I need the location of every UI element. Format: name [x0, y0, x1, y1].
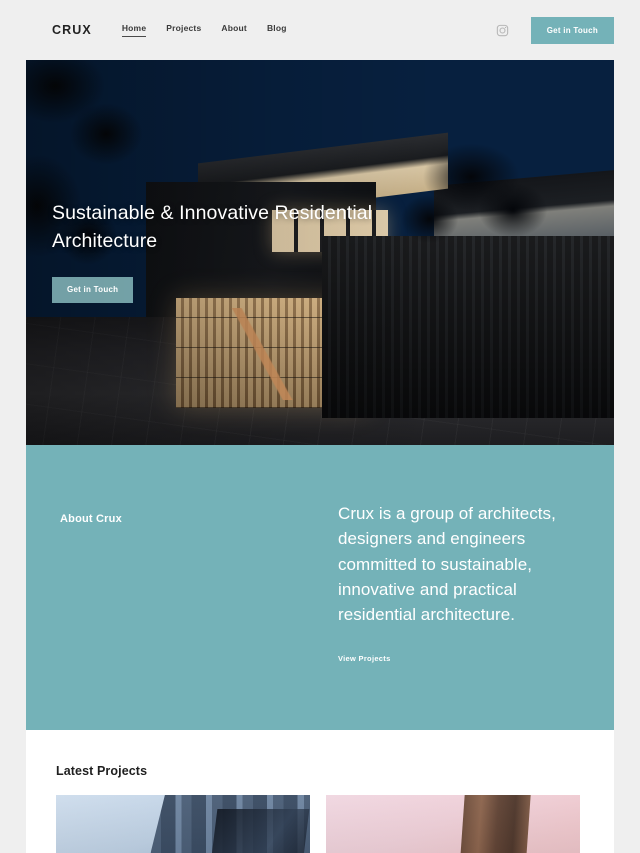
site-header: CRUX Home Projects About Blog Get in Tou… — [0, 0, 640, 60]
about-section: About Crux Crux is a group of architects… — [26, 445, 614, 730]
nav-link-projects[interactable]: Projects — [166, 23, 201, 37]
brand-logo[interactable]: CRUX — [52, 23, 92, 37]
project-thumbnail-1 — [56, 795, 310, 853]
about-copy: Crux is a group of architects, designers… — [338, 501, 580, 628]
instagram-icon[interactable] — [496, 24, 509, 37]
about-kicker: About Crux — [60, 513, 338, 525]
view-projects-link[interactable]: View Projects — [338, 654, 391, 663]
nav-link-about[interactable]: About — [221, 23, 247, 37]
thumbnail-shade — [326, 795, 580, 853]
header-actions: Get in Touch — [496, 17, 614, 44]
latest-projects-section: Latest Projects — [26, 730, 614, 853]
hero-content: Sustainable & Innovative Residential Arc… — [52, 200, 432, 303]
hero-section: Sustainable & Innovative Residential Arc… — [26, 60, 614, 445]
project-card-1[interactable] — [56, 795, 310, 853]
thumbnail-shade — [56, 795, 310, 853]
nav-link-blog[interactable]: Blog — [267, 23, 287, 37]
project-grid — [56, 795, 584, 853]
header-get-in-touch-button[interactable]: Get in Touch — [531, 17, 614, 44]
main-nav: Home Projects About Blog — [122, 23, 287, 37]
project-thumbnail-2 — [326, 795, 580, 853]
about-left-column: About Crux — [60, 501, 338, 525]
latest-projects-title: Latest Projects — [56, 764, 584, 778]
hero-get-in-touch-button[interactable]: Get in Touch — [52, 277, 133, 303]
nav-link-home[interactable]: Home — [122, 23, 146, 37]
project-card-2[interactable] — [326, 795, 580, 853]
page-root: CRUX Home Projects About Blog Get in Tou… — [0, 0, 640, 853]
hero-title: Sustainable & Innovative Residential Arc… — [52, 200, 432, 255]
about-right-column: Crux is a group of architects, designers… — [338, 501, 580, 666]
